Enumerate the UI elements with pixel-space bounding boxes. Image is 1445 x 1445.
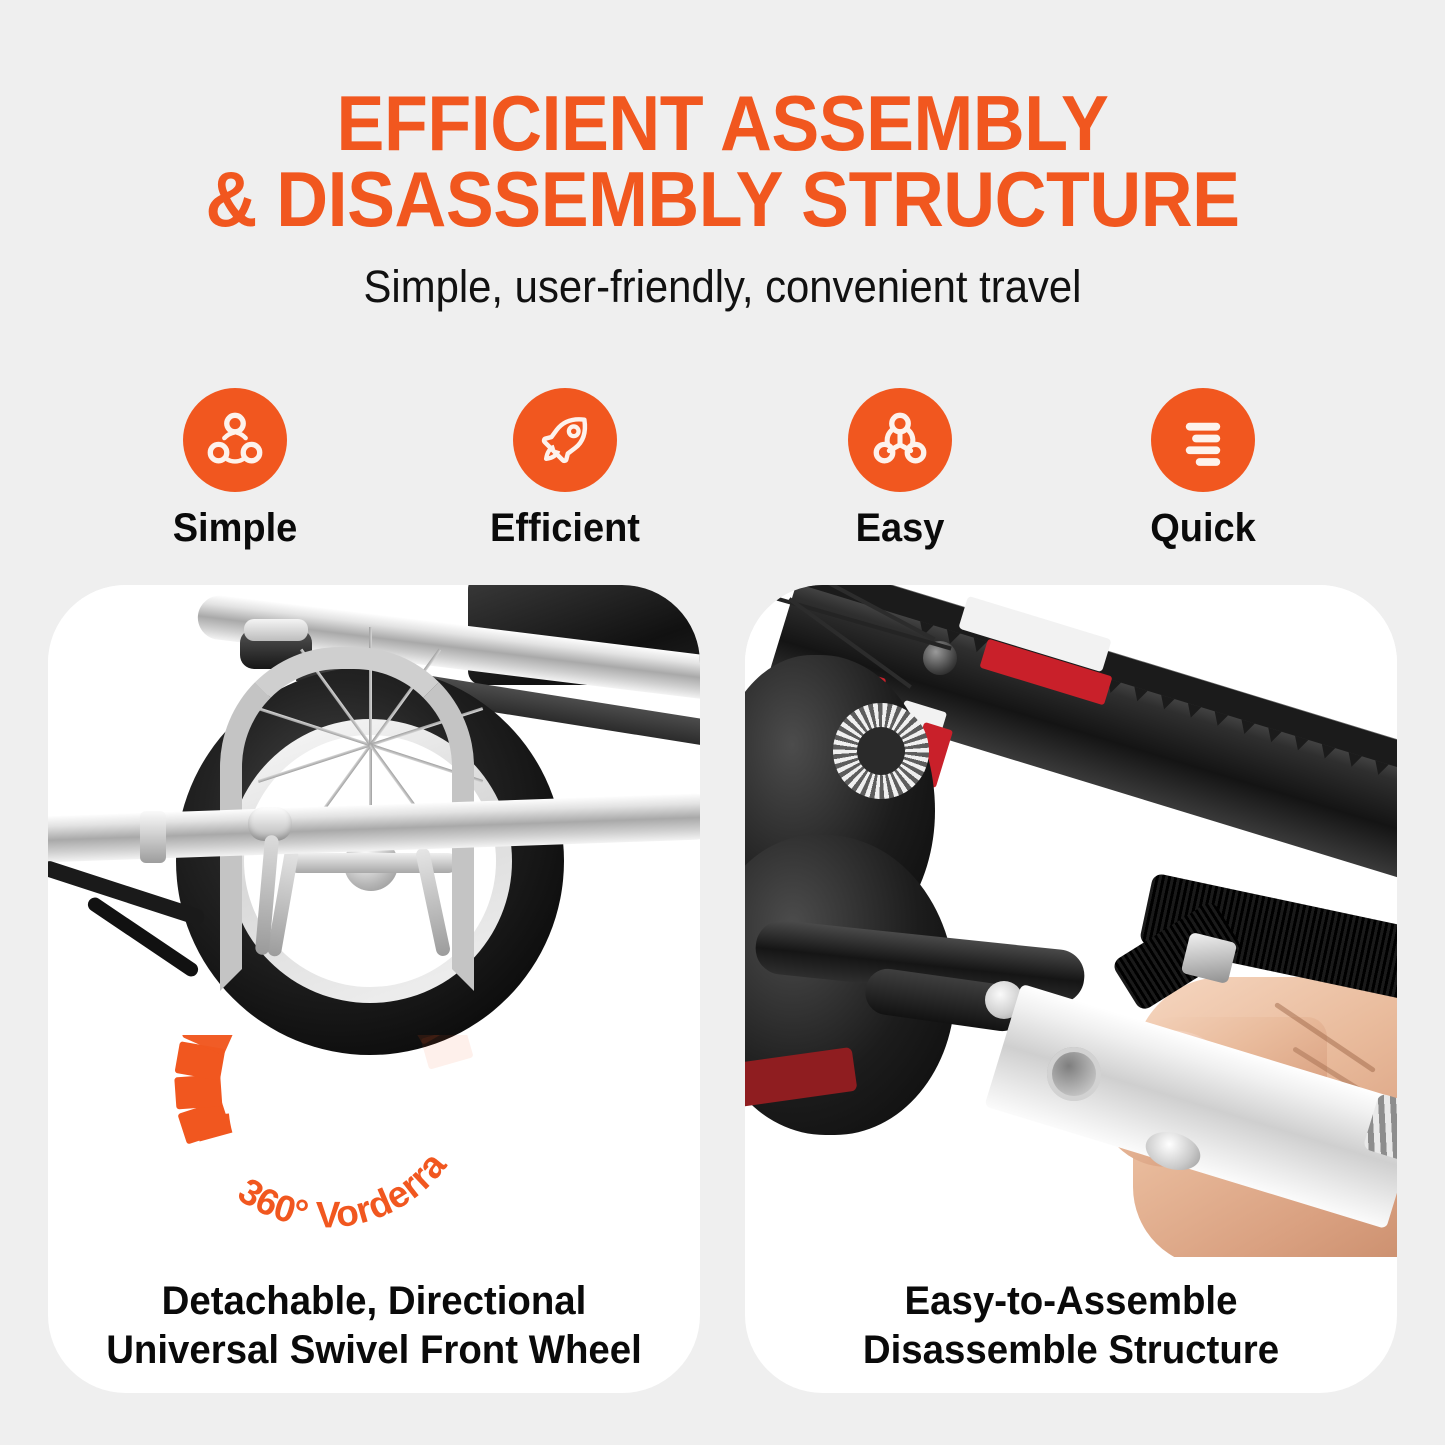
caption-line-2: Disassemble Structure — [758, 1326, 1384, 1375]
feature-item-efficient: Efficient — [450, 388, 680, 551]
feature-label: Efficient — [456, 506, 675, 551]
card-assembly: Easy-to-Assemble Disassemble Structure — [745, 585, 1397, 1393]
feature-icon-badge — [513, 388, 617, 492]
card-right-caption: Easy-to-Assemble Disassemble Structure — [758, 1277, 1384, 1375]
feature-label: Quick — [1094, 506, 1313, 551]
headline-line-1: EFFICIENT ASSEMBLY — [58, 86, 1387, 162]
share-nodes-icon — [204, 409, 266, 471]
caption-line-1: Easy-to-Assemble — [758, 1277, 1384, 1326]
stacked-bars-icon — [1174, 411, 1232, 469]
headline-line-2: & DISASSEMBLY STRUCTURE — [58, 162, 1387, 238]
card-front-wheel: 360° Vorderrad Detachable, Directional U… — [48, 585, 700, 1393]
card-left-caption: Detachable, Directional Universal Swivel… — [61, 1277, 687, 1375]
photo-front-wheel: 360° Vorderrad — [48, 585, 700, 1257]
feature-icon-badge — [1151, 388, 1255, 492]
feature-cards: 360° Vorderrad Detachable, Directional U… — [0, 585, 1445, 1393]
triskelion-nodes-icon — [869, 409, 931, 471]
photo-assembly — [745, 585, 1397, 1257]
feature-item-quick: Quick — [1088, 388, 1318, 551]
feature-label: Simple — [126, 506, 345, 551]
rocket-icon — [534, 409, 596, 471]
feature-item-simple: Simple — [120, 388, 350, 551]
page-title: EFFICIENT ASSEMBLY & DISASSEMBLY STRUCTU… — [58, 86, 1387, 237]
caption-line-2: Universal Swivel Front Wheel — [61, 1326, 687, 1375]
caption-line-1: Detachable, Directional — [61, 1277, 687, 1326]
page-subtitle: Simple, user-friendly, convenient travel — [51, 261, 1395, 313]
feature-label: Easy — [791, 506, 1010, 551]
feature-item-easy: Easy — [785, 388, 1015, 551]
header: EFFICIENT ASSEMBLY & DISASSEMBLY STRUCTU… — [0, 0, 1445, 313]
feature-icon-badge — [848, 388, 952, 492]
feature-list: Simple Efficient — [0, 388, 1445, 553]
feature-icon-badge — [183, 388, 287, 492]
